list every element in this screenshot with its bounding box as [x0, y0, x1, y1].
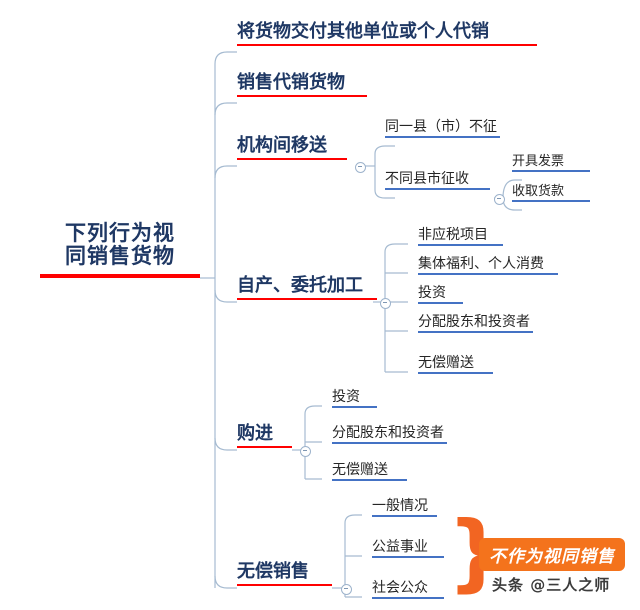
- subnode-label-diff-county: 不同县市征收: [385, 172, 490, 187]
- branch-node-6[interactable]: 无偿销售: [237, 562, 332, 586]
- root-label-line1: 下列行为视: [40, 222, 200, 245]
- subnode-label-free-gift-4: 无偿赠送: [418, 356, 493, 371]
- collapse-toggle-branch-5[interactable]: [300, 446, 311, 457]
- subnode-underline-issue-invoice: [512, 170, 590, 172]
- branch-node-4[interactable]: 自产、委托加工: [237, 276, 377, 300]
- subnode-label-general-case: 一般情况: [372, 499, 437, 514]
- subnode-diff-county[interactable]: 不同县市征收: [385, 172, 490, 190]
- branch-underline-5: [237, 446, 292, 448]
- subnode-free-gift-5[interactable]: 无偿赠送: [332, 463, 407, 481]
- subnode-underline-collect-payment: [512, 200, 590, 202]
- subnode-underline-welfare-consumption: [418, 273, 558, 275]
- subnode-same-county[interactable]: 同一县（市）不征: [385, 120, 500, 138]
- branch-label-4: 自产、委托加工: [237, 276, 377, 296]
- branch-label-2: 销售代销货物: [237, 73, 367, 93]
- branch-underline-6: [237, 584, 332, 586]
- subnode-collect-payment[interactable]: 收取货款: [512, 185, 590, 202]
- subnode-underline-investment-4: [418, 302, 463, 304]
- branch-underline-1: [237, 44, 537, 46]
- branch-underline-4: [237, 298, 377, 300]
- collapse-toggle-branch-6[interactable]: [341, 584, 352, 595]
- subnode-label-investment-5: 投资: [332, 390, 377, 405]
- branch-label-3: 机构间移送: [237, 136, 347, 156]
- subnode-general-public[interactable]: 社会公众: [372, 581, 444, 599]
- subnode-welfare-consumption[interactable]: 集体福利、个人消费: [418, 257, 558, 275]
- not-deemed-sale-badge: 不作为视同销售: [479, 538, 625, 571]
- subnode-underline-nontaxable-item: [418, 244, 503, 246]
- subnode-underline-distribute-shareholders-5: [332, 442, 447, 444]
- subnode-label-collect-payment: 收取货款: [512, 185, 590, 199]
- branch-node-1[interactable]: 将货物交付其他单位或个人代销: [237, 22, 537, 46]
- branch-node-2[interactable]: 销售代销货物: [237, 73, 367, 97]
- subnode-underline-free-gift-5: [332, 479, 407, 481]
- mindmap-canvas: 下列行为视 同销售货物 将货物交付其他单位或个人代销 销售代销货物 机构间移送 …: [0, 0, 640, 610]
- branch-label-5: 购进: [237, 424, 292, 444]
- subnode-nontaxable-item[interactable]: 非应税项目: [418, 228, 503, 246]
- subnode-label-distribute-shareholders-4: 分配股东和投资者: [418, 315, 533, 330]
- subnode-public-welfare[interactable]: 公益事业: [372, 540, 444, 558]
- subnode-underline-same-county: [385, 136, 500, 138]
- subnode-underline-general-public: [372, 597, 444, 599]
- subnode-general-case[interactable]: 一般情况: [372, 499, 437, 517]
- branch-label-1: 将货物交付其他单位或个人代销: [237, 22, 537, 42]
- subnode-underline-public-welfare: [372, 556, 444, 558]
- root-underline: [40, 274, 200, 278]
- branch-node-5[interactable]: 购进: [237, 424, 292, 448]
- subnode-label-investment-4: 投资: [418, 286, 463, 301]
- watermark-text: 头条 @三人之师: [492, 574, 610, 595]
- collapse-toggle-diff-county[interactable]: [494, 194, 505, 205]
- subnode-label-public-welfare: 公益事业: [372, 540, 444, 555]
- branch-label-6: 无偿销售: [237, 562, 332, 582]
- subnode-label-distribute-shareholders-5: 分配股东和投资者: [332, 426, 447, 441]
- subnode-label-issue-invoice: 开具发票: [512, 155, 590, 169]
- subnode-underline-distribute-shareholders-4: [418, 331, 533, 333]
- collapse-toggle-branch-4[interactable]: [380, 298, 391, 309]
- subnode-label-welfare-consumption: 集体福利、个人消费: [418, 257, 558, 272]
- subnode-free-gift-4[interactable]: 无偿赠送: [418, 356, 493, 374]
- subnode-label-general-public: 社会公众: [372, 581, 444, 596]
- subnode-underline-free-gift-4: [418, 372, 493, 374]
- collapse-toggle-branch-3[interactable]: [355, 162, 366, 173]
- root-label-line2: 同销售货物: [40, 245, 200, 268]
- subnode-distribute-shareholders-4[interactable]: 分配股东和投资者: [418, 315, 533, 333]
- subnode-underline-investment-5: [332, 406, 377, 408]
- subnode-label-nontaxable-item: 非应税项目: [418, 228, 503, 243]
- subnode-issue-invoice[interactable]: 开具发票: [512, 155, 590, 172]
- subnode-investment-5[interactable]: 投资: [332, 390, 377, 408]
- subnode-underline-diff-county: [385, 188, 490, 190]
- branch-underline-2: [237, 95, 367, 97]
- branch-node-3[interactable]: 机构间移送: [237, 136, 347, 160]
- subnode-label-same-county: 同一县（市）不征: [385, 120, 500, 135]
- subnode-label-free-gift-5: 无偿赠送: [332, 463, 407, 478]
- branch-underline-3: [237, 158, 347, 160]
- root-node[interactable]: 下列行为视 同销售货物: [40, 222, 200, 278]
- subnode-distribute-shareholders-5[interactable]: 分配股东和投资者: [332, 426, 447, 444]
- subnode-investment-4[interactable]: 投资: [418, 286, 463, 304]
- subnode-underline-general-case: [372, 515, 437, 517]
